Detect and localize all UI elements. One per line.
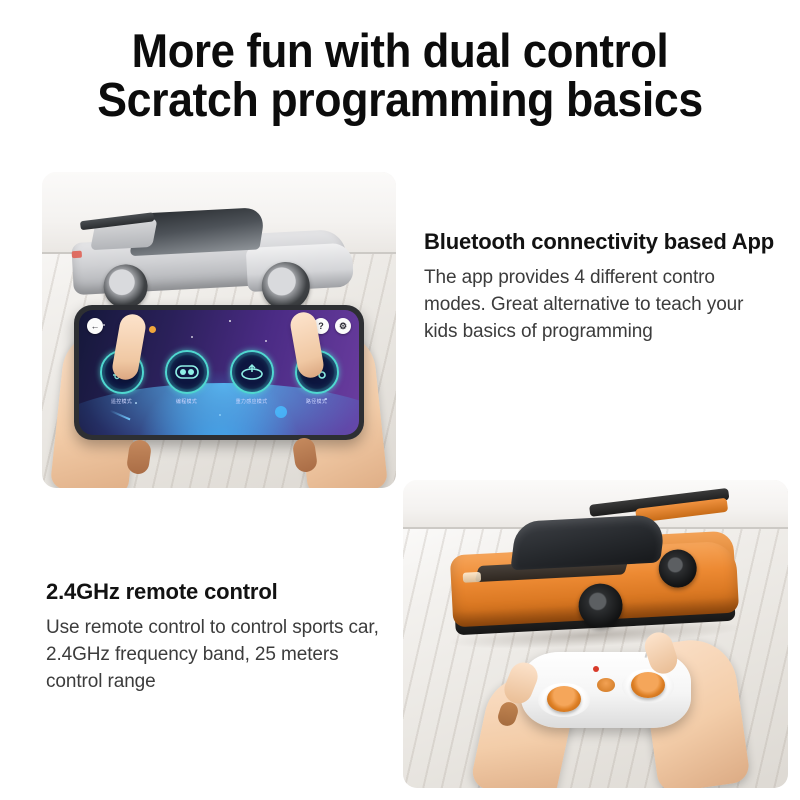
right-joystick[interactable]	[631, 672, 665, 698]
app-mode-label: 路径模式	[290, 398, 344, 405]
feature-body: Use remote control to control sports car…	[46, 614, 398, 695]
photo-remote-control	[403, 480, 788, 788]
left-joystick[interactable]	[547, 686, 581, 712]
orange-brick-sports-car	[439, 488, 747, 663]
grey-brick-sports-car	[61, 186, 357, 321]
photo-app-control: ← ? ⚙ 遥控模	[42, 172, 396, 488]
feature-page: More fun with dual control Scratch progr…	[0, 0, 800, 800]
gravity-sensor-icon[interactable]	[230, 350, 274, 394]
app-mode-label: 重力感应模式	[225, 398, 279, 405]
feature-remote-control: 2.4GHz remote control Use remote control…	[46, 578, 398, 695]
page-title-line-1: More fun with dual control	[28, 26, 772, 76]
feature-body: The app provides 4 different contro mode…	[424, 264, 776, 345]
feature-bluetooth-app: Bluetooth connectivity based App The app…	[424, 228, 776, 345]
program-blocks-icon[interactable]	[165, 350, 209, 394]
feature-heading: 2.4GHz remote control	[46, 578, 398, 605]
center-button[interactable]	[597, 678, 615, 692]
car-headlight	[463, 572, 481, 583]
car-taillight	[72, 251, 82, 259]
app-mode-label: 遥控模式	[95, 398, 149, 405]
power-led-indicator	[593, 666, 599, 672]
page-title: More fun with dual control Scratch progr…	[0, 26, 800, 126]
back-arrow-icon[interactable]: ←	[87, 318, 103, 334]
app-mode-item[interactable]: 编程模式	[160, 350, 214, 405]
app-mode-label: 编程模式	[160, 398, 214, 405]
page-title-line-2: Scratch programming basics	[28, 76, 772, 126]
car-cabin	[510, 514, 666, 570]
app-mode-item[interactable]: 重力感应模式	[225, 350, 279, 405]
feature-heading: Bluetooth connectivity based App	[424, 228, 776, 255]
gear-icon[interactable]: ⚙	[335, 318, 351, 334]
